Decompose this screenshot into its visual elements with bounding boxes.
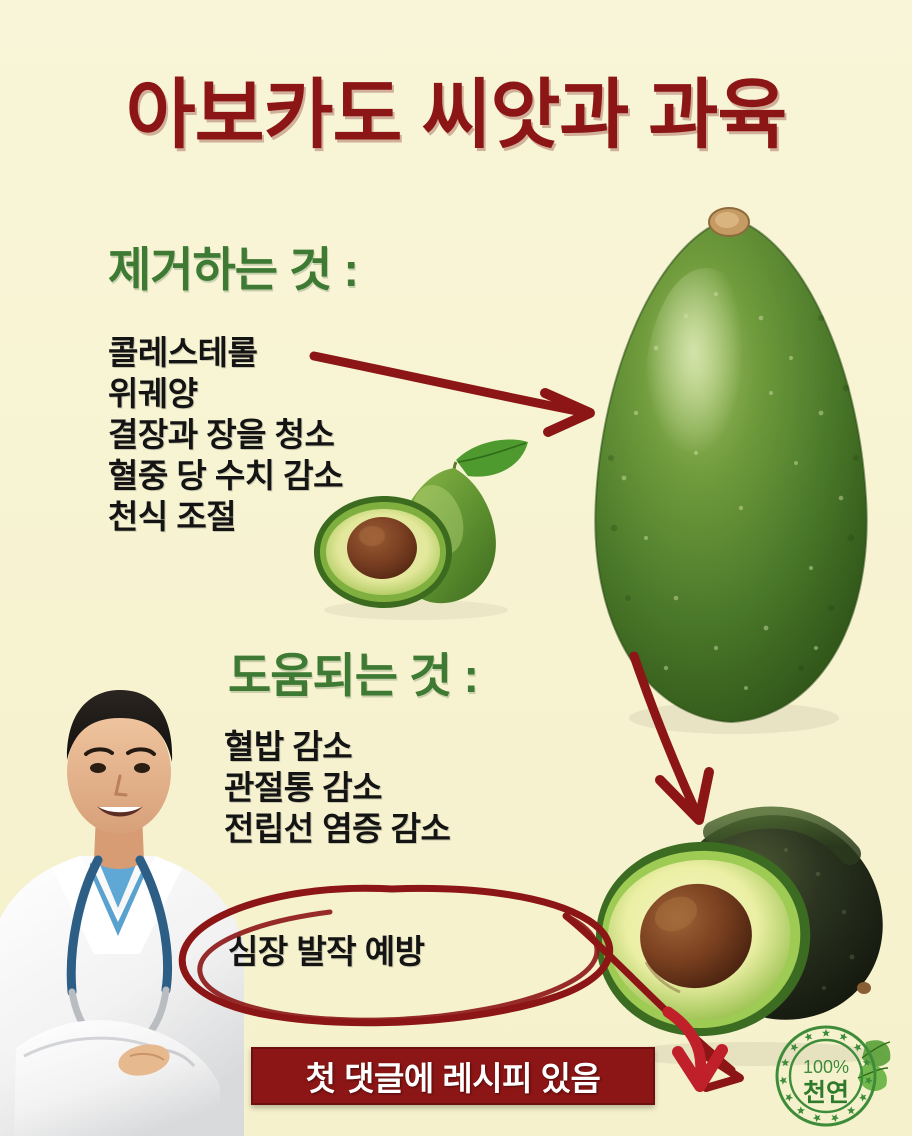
remove-list: 콜레스테롤 위궤양 결장과 장을 청소 혈중 당 수치 감소 천식 조절 (108, 332, 538, 537)
recipe-banner-label: 첫 댓글에 레시피 있음 (306, 1052, 601, 1100)
infographic-poster: 아보카도 씨앗과 과육 (0, 0, 912, 1136)
list-item: 천식 조절 (108, 496, 538, 537)
section-heading-help: 도움되는 것 : (228, 652, 478, 699)
big-avocado-image (566, 198, 896, 766)
list-item: 결장과 장을 청소 (108, 414, 538, 455)
help-list: 혈밥 감소 관절통 감소 전립선 염증 감소 (224, 726, 654, 849)
page-title: 아보카도 씨앗과 과육 (0, 78, 912, 154)
list-item: 혈중 당 수치 감소 (108, 455, 538, 496)
highlighted-benefit: 심장 발작 예방 (228, 925, 425, 973)
list-item: 위궤양 (108, 373, 538, 414)
list-item: 혈밥 감소 (224, 726, 654, 767)
list-item: 콜레스테롤 (108, 332, 538, 373)
list-item: 관절통 감소 (224, 767, 654, 808)
natural-stamp-badge: 100% 천연 (770, 1018, 892, 1130)
recipe-banner[interactable]: 첫 댓글에 레시피 있음 (251, 1047, 655, 1105)
list-item: 전립선 염증 감소 (224, 808, 654, 849)
badge-label: 천연 (803, 1079, 849, 1107)
doctor-image (0, 654, 244, 1136)
section-heading-remove: 제거하는 것 : (108, 246, 358, 293)
badge-percent: 100% (803, 1057, 849, 1077)
